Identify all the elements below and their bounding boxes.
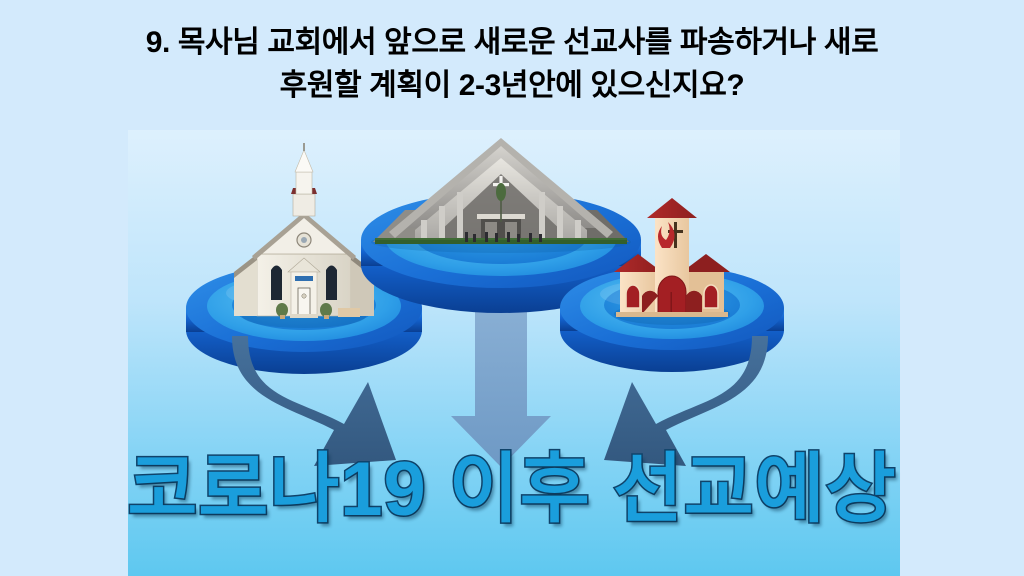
presentation-slide: 9. 목사님 교회에서 앞으로 새로운 선교사를 파송하거나 새로 후원할 계획… <box>0 0 1024 576</box>
question-heading: 9. 목사님 교회에서 앞으로 새로운 선교사를 파송하거나 새로 후원할 계획… <box>0 22 1024 107</box>
slide-caption: 코로나19 이후 선교예상 <box>0 452 1024 528</box>
